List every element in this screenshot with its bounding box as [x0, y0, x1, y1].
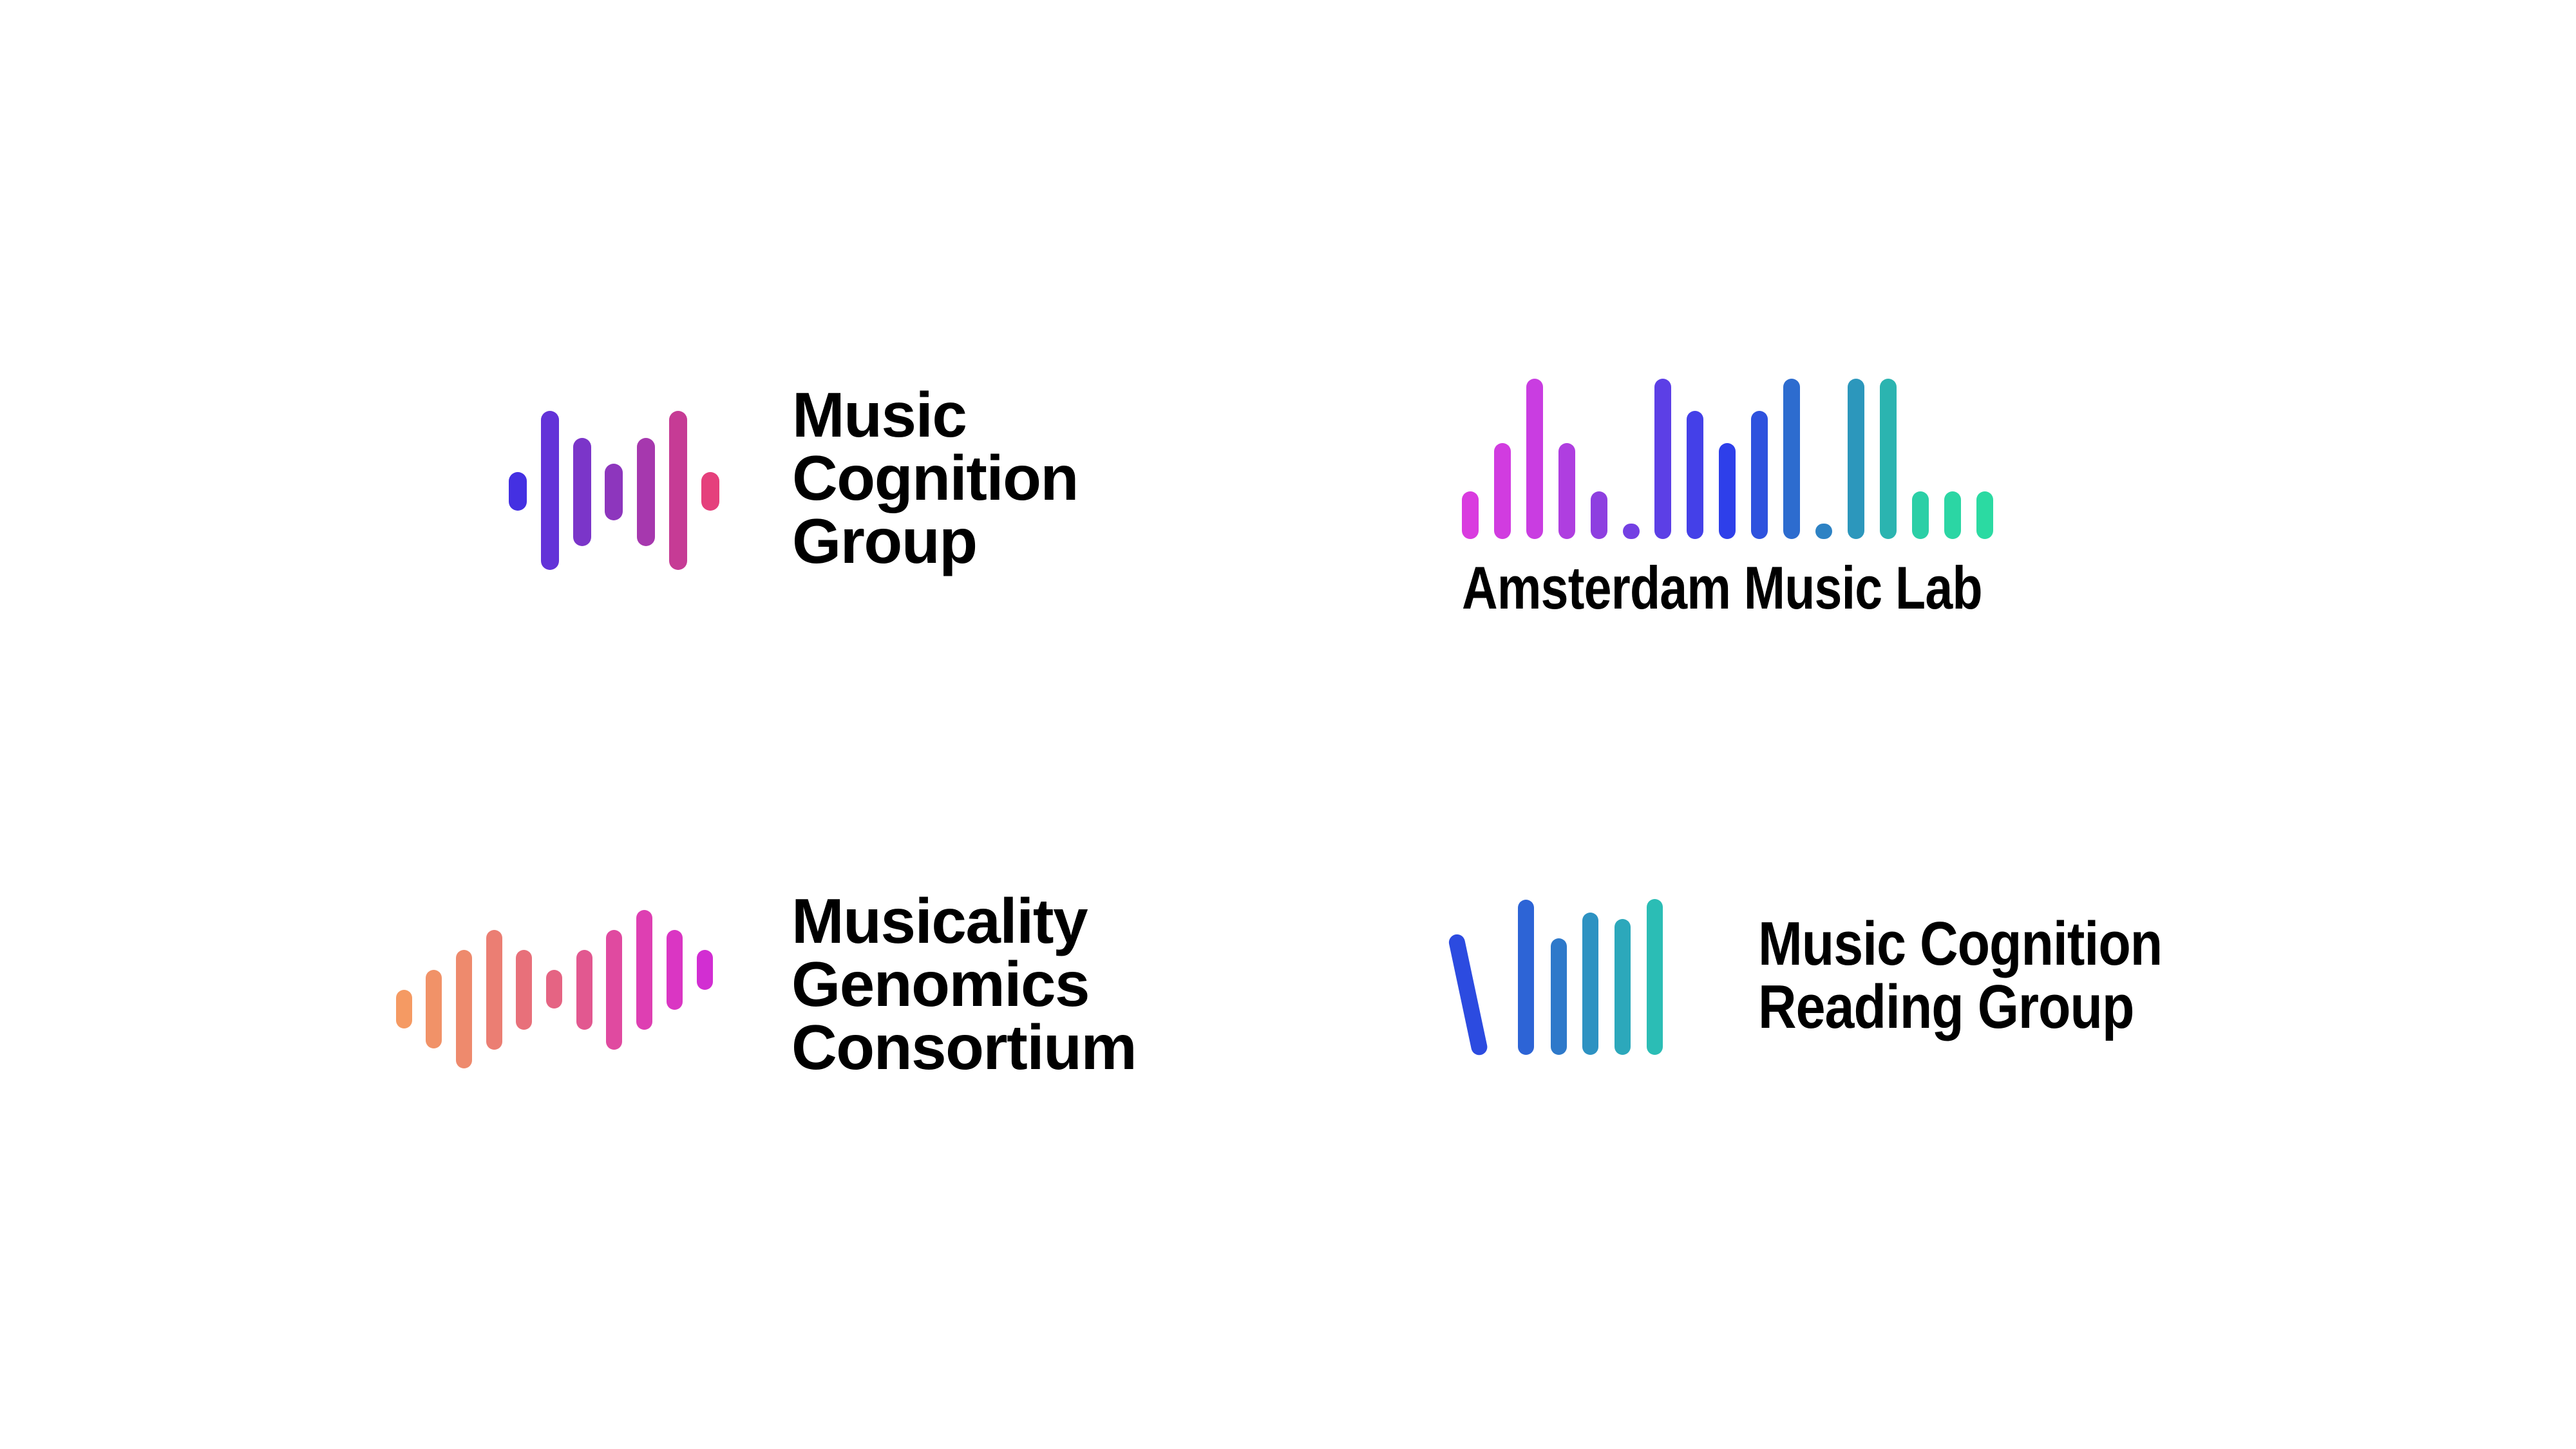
waveform-bar: [1976, 491, 1993, 539]
waveform-bar: [701, 472, 719, 511]
waveform-bar: [636, 910, 652, 1030]
wordmark-line-1: Amsterdam Music Lab: [1462, 558, 1982, 618]
waveform-bar: [516, 950, 532, 1030]
waveform-bar: [1815, 524, 1832, 539]
waveform-bar: [1654, 379, 1671, 539]
waveform-bar: [1518, 900, 1534, 1055]
wordmark-amsterdam-music-lab: Amsterdam Music Lab: [1462, 558, 1982, 618]
wordmark-musicality-genomics-consortium: Musicality Genomics Consortium: [791, 889, 1136, 1079]
logo-music-cognition-group[interactable]: Music Cognition Group: [509, 386, 1078, 573]
waveform-bar: [1582, 913, 1598, 1055]
waveform-bar: [426, 970, 442, 1048]
waveform-bar: [606, 930, 622, 1050]
waveform-bar: [1526, 379, 1543, 539]
logo-amsterdam-music-lab[interactable]: Amsterdam Music Lab: [1462, 370, 2096, 618]
waveform-bar: [1912, 491, 1929, 539]
waveform-bar: [1462, 491, 1479, 539]
waveform-bar: [573, 438, 591, 546]
waveform-bar: [1687, 411, 1703, 539]
wordmark-line-2: Reading Group: [1758, 976, 2162, 1039]
logo-sheet: Music Cognition Group Amsterdam Music La…: [0, 0, 2576, 1449]
waveform-bar: [1880, 379, 1897, 539]
waveform-bar: [667, 930, 683, 1010]
waveform-bar: [1591, 491, 1607, 539]
wordmark-line-1: Music: [792, 383, 1078, 446]
waveform-bar: [486, 930, 502, 1050]
waveform-bar: [546, 970, 562, 1009]
wordmark-line-2: Genomics: [791, 952, 1136, 1016]
waveform-bar: [1551, 938, 1567, 1055]
wordmark-music-cognition-reading-group: Music Cognition Reading Group: [1758, 913, 2162, 1039]
logo-music-cognition-reading-group[interactable]: Music Cognition Reading Group: [1470, 895, 2228, 1056]
waveform-bar: [1615, 919, 1631, 1055]
waveform-bar: [1623, 524, 1640, 539]
waveform-bar: [1494, 443, 1511, 539]
waveform-mark-musicality-genomics-consortium: [394, 904, 719, 1068]
waveform-bar: [396, 990, 412, 1028]
waveform-bar: [1558, 443, 1575, 539]
waveform-bar: [1719, 443, 1736, 539]
waveform-mark-amsterdam-music-lab: [1462, 370, 2003, 541]
wordmark-music-cognition-group: Music Cognition Group: [792, 383, 1078, 573]
waveform-bar: [637, 438, 655, 546]
waveform-bar: [576, 950, 592, 1030]
waveform-bar: [541, 411, 559, 570]
waveform-bar: [1848, 379, 1864, 539]
waveform-bar: [1783, 379, 1800, 539]
wordmark-line-1: Musicality: [791, 889, 1136, 952]
wordmark-line-1: Music Cognition: [1758, 913, 2162, 976]
waveform-mark-music-cognition-reading-group: [1470, 895, 1669, 1056]
waveform-bar: [669, 411, 687, 570]
wordmark-line-3: Group: [792, 509, 1078, 573]
wordmark-line-2: Cognition: [792, 446, 1078, 509]
wordmark-line-3: Consortium: [791, 1016, 1136, 1079]
waveform-bar: [1944, 491, 1961, 539]
logo-musicality-genomics-consortium[interactable]: Musicality Genomics Consortium: [394, 892, 1136, 1079]
waveform-bar: [605, 464, 623, 520]
waveform-bar: [1448, 933, 1489, 1057]
waveform-bar: [1647, 899, 1663, 1055]
waveform-bar: [456, 950, 472, 1068]
waveform-bar: [509, 472, 527, 511]
waveform-mark-music-cognition-group: [509, 386, 734, 573]
waveform-bar: [697, 950, 713, 990]
waveform-bar: [1751, 411, 1768, 539]
